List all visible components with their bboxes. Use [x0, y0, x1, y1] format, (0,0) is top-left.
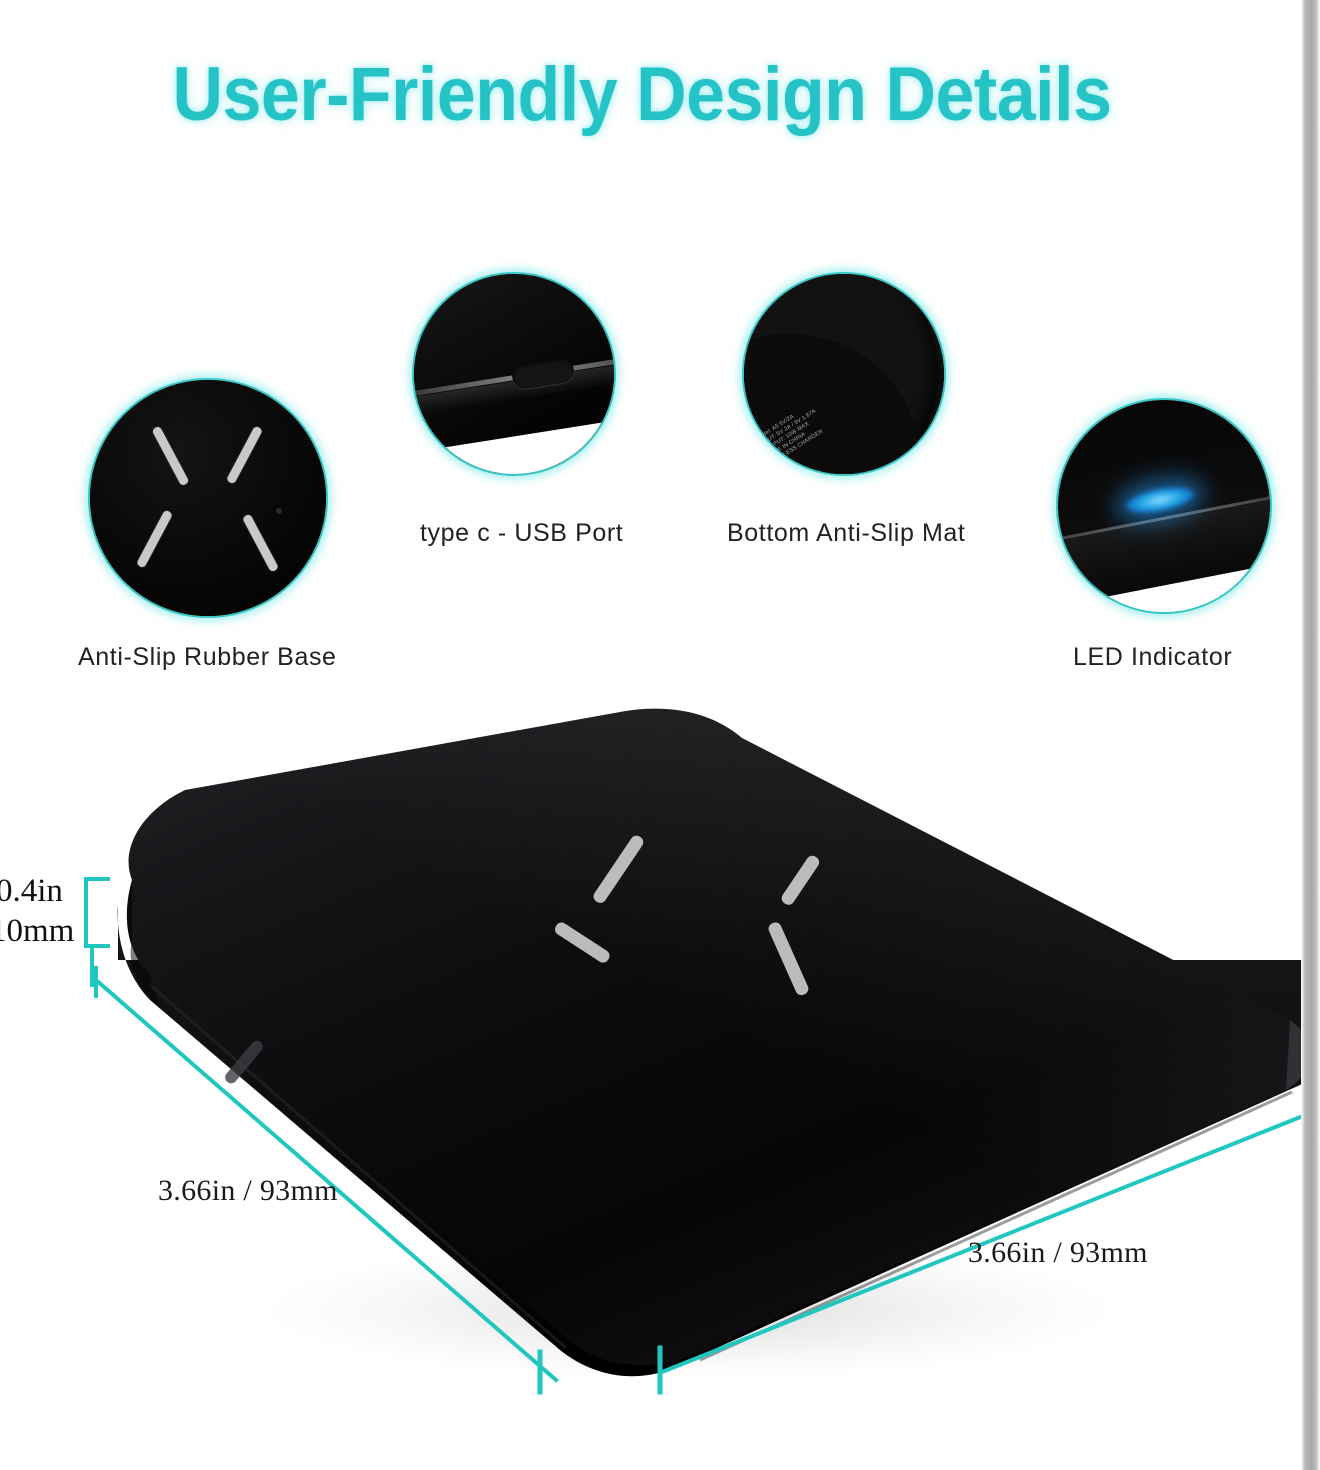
rubber-base-surface — [90, 380, 326, 616]
x-strip — [591, 833, 645, 905]
bottom-mat-circle-icon: Model: A5 5V/2A INPUT: 5V 2A / 9V 1.67A … — [742, 272, 946, 476]
x-strip — [779, 853, 821, 907]
usb-c-port-circle-icon — [412, 272, 616, 476]
dimension-width-right: 3.66in / 93mm — [968, 1236, 1148, 1270]
dimension-height-millimeters: 10mm — [0, 912, 74, 950]
product-seam-right — [700, 1092, 1292, 1360]
callout-label-bottom-anti-slip-mat: Bottom Anti-Slip Mat — [727, 518, 965, 548]
infographic-canvas: User-Friendly Design Details Anti-Slip R… — [0, 0, 1320, 1470]
product-side-notch — [223, 1038, 266, 1086]
page-title: User-Friendly Design Details — [51, 52, 1232, 138]
dimension-lines — [86, 879, 1320, 1392]
product-side-body — [118, 905, 1320, 1376]
image-crop-edge-bar — [1301, 0, 1320, 1470]
x-strip — [553, 920, 612, 965]
dimension-width-left: 3.66in / 93mm — [158, 1174, 338, 1208]
charging-x-pattern — [553, 833, 822, 997]
x-strip — [767, 921, 811, 998]
callout-label-anti-slip-rubber-base: Anti-Slip Rubber Base — [78, 642, 337, 672]
dimension-height-inches: 0.4in — [0, 872, 63, 910]
product-seam-left — [150, 985, 566, 1348]
callout-label-type-c-usb-port: type c - USB Port — [420, 518, 623, 548]
callout-label-led-indicator: LED Indicator — [1073, 642, 1232, 672]
product-left-edge-shade — [127, 880, 160, 1008]
rubber-base-circle-icon — [88, 378, 328, 618]
led-indicator-circle-icon — [1056, 398, 1272, 614]
surface-dot — [276, 508, 282, 514]
dim-thickness-bracket — [86, 879, 108, 946]
